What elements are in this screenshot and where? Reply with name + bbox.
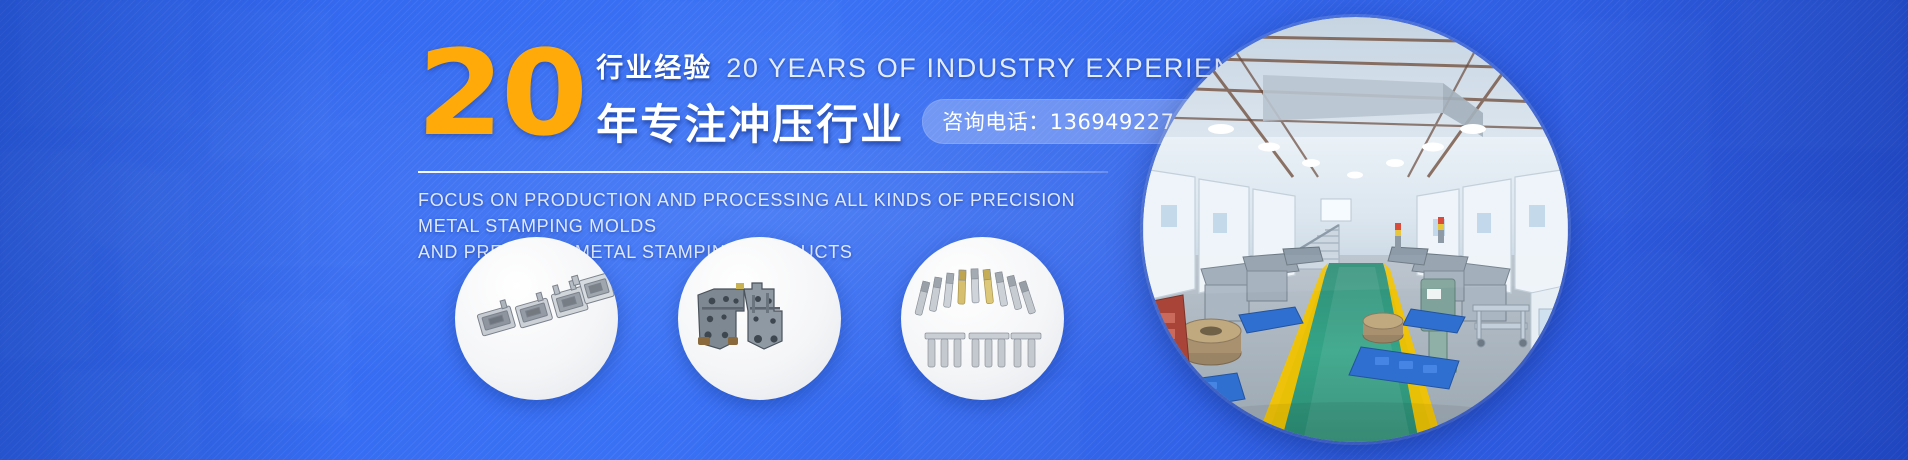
headline-en-small: 20 YEARS OF INDUSTRY EXPERIENCE: [726, 53, 1275, 84]
headline-divider: [418, 171, 1108, 173]
banner-copy: 20 行业经验 20 YEARS OF INDUSTRY EXPERIENCE …: [418, 42, 1138, 265]
product-circle-group: [455, 237, 1064, 400]
headline-cn-large: 年专注冲压行业: [596, 91, 904, 152]
headline-line-one: 行业经验 20 YEARS OF INDUSTRY EXPERIENCE: [596, 46, 1275, 85]
factory-workshop-circle[interactable]: [1143, 17, 1568, 442]
product-circle-usb-connector-shells[interactable]: [455, 237, 618, 400]
product-circle-metal-terminals[interactable]: [901, 237, 1064, 400]
subtitle-line-one: FOCUS ON PRODUCTION AND PROCESSING ALL K…: [418, 187, 1138, 239]
product-circle-stamping-die[interactable]: [678, 237, 841, 400]
headline-cn-small: 行业经验: [596, 46, 712, 85]
promo-banner: 20 行业经验 20 YEARS OF INDUSTRY EXPERIENCE …: [0, 0, 1908, 460]
headline-row: 20 行业经验 20 YEARS OF INDUSTRY EXPERIENCE …: [418, 42, 1138, 152]
years-number: 20: [416, 42, 586, 146]
